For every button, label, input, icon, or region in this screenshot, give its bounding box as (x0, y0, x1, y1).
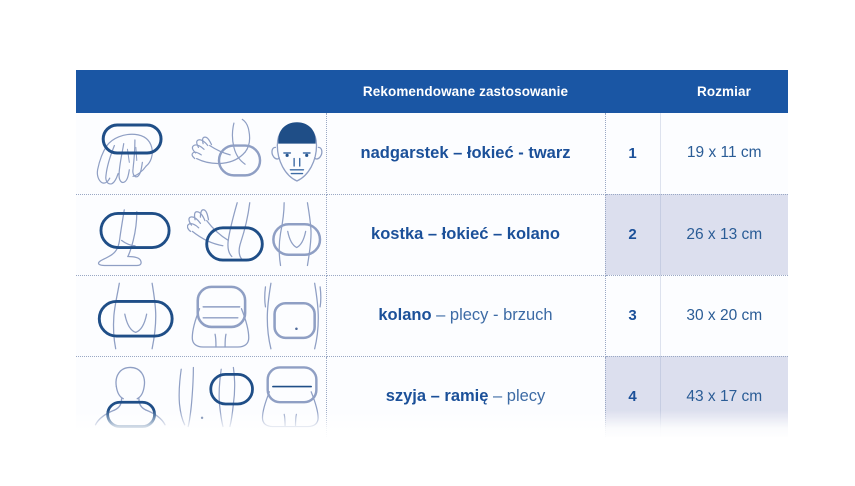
table-row: kolano – plecy - brzuch 3 30 x 20 cm (76, 275, 788, 356)
size-number-cell: 3 (605, 275, 660, 356)
illustration-cell (76, 194, 326, 275)
forearm-elbow-pad-icon (191, 115, 266, 191)
face-forehead-pad-icon (268, 115, 326, 191)
illustration-cell (76, 113, 326, 194)
header-illustration-column (76, 70, 326, 113)
usage-label-light: – plecy (488, 387, 545, 405)
header-size-number-column (605, 70, 660, 113)
upper-back-pad-icon (185, 278, 258, 354)
table-row: kostka – łokieć – kolano 2 26 x 13 cm (76, 194, 788, 275)
table-row: nadgarstek – łokieć - twarz 1 19 x 11 cm (76, 113, 788, 194)
illustration-group (76, 114, 326, 192)
header-row: Rekomendowane zastosowanie Rozmiar (76, 70, 788, 113)
table-row: szyja – ramię – plecy 4 43 x 17 cm (76, 356, 788, 437)
usage-cell: kolano – plecy - brzuch (326, 275, 605, 356)
size-dimension-cell: 43 x 17 cm (660, 356, 788, 437)
shoulder-arm-pad-icon (176, 359, 258, 435)
size-chart-table: Rekomendowane zastosowanie Rozmiar (76, 70, 788, 437)
neck-shoulder-pad-icon (92, 359, 174, 435)
usage-cell: nadgarstek – łokieć - twarz (326, 113, 605, 194)
size-number-cell: 2 (605, 194, 660, 275)
size-dimension-cell: 30 x 20 cm (660, 275, 788, 356)
back-torso-pad-icon (259, 359, 325, 435)
size-chart-container: Rekomendowane zastosowanie Rozmiar (76, 70, 788, 437)
table-body: nadgarstek – łokieć - twarz 1 19 x 11 cm (76, 113, 788, 437)
header-size-dimension-column: Rozmiar (660, 70, 788, 113)
illustration-group (76, 196, 326, 274)
knee-leg-pad-icon (92, 278, 183, 354)
size-dimension-cell: 26 x 13 cm (660, 194, 788, 275)
usage-label-strong: kolano (378, 306, 431, 324)
ankle-pad-icon (92, 197, 185, 273)
illustration-group (76, 277, 326, 355)
illustration-cell (76, 275, 326, 356)
knee-pad-icon (268, 197, 325, 273)
hand-wrist-pad-icon (92, 115, 189, 191)
size-dimension-cell: 19 x 11 cm (660, 113, 788, 194)
usage-label-light: – plecy - brzuch (432, 306, 553, 324)
size-number-cell: 1 (605, 113, 660, 194)
header-usage-column: Rekomendowane zastosowanie (326, 70, 605, 113)
illustration-cell (76, 356, 326, 437)
illustration-group (76, 358, 326, 436)
elbow-arm-pad-icon (187, 197, 266, 273)
usage-label-strong: nadgarstek – łokieć - twarz (361, 144, 571, 162)
usage-cell: kostka – łokieć – kolano (326, 194, 605, 275)
table-header: Rekomendowane zastosowanie Rozmiar (76, 70, 788, 113)
usage-cell: szyja – ramię – plecy (326, 356, 605, 437)
size-number-cell: 4 (605, 356, 660, 437)
usage-label-strong: szyja – ramię (386, 387, 489, 405)
abdomen-pad-icon (260, 278, 326, 354)
usage-label-strong: kostka – łokieć – kolano (371, 225, 560, 243)
